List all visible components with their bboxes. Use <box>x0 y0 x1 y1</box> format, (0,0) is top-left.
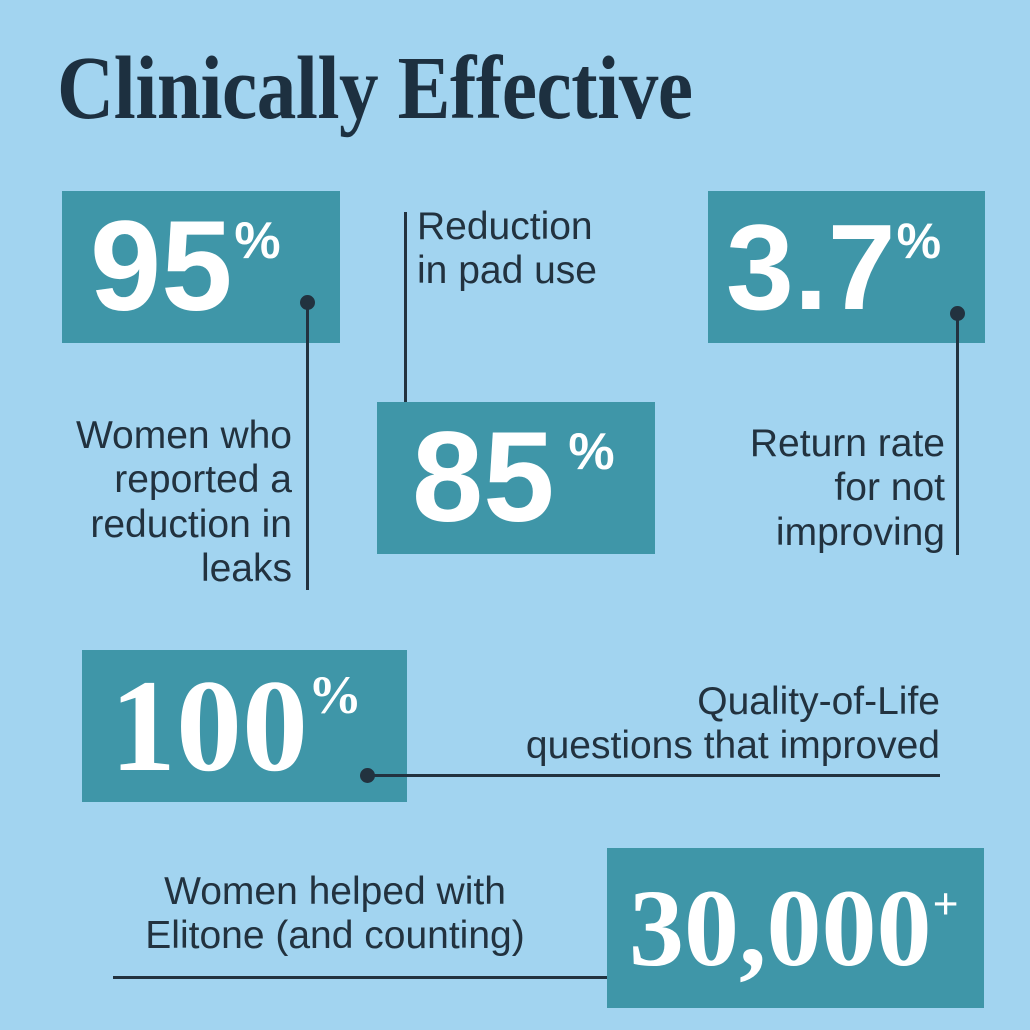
stat-box-reduction-in-pad-use: 85% <box>377 402 655 554</box>
percent-suffix-85: % <box>568 426 614 478</box>
plus-suffix-30000: + <box>933 881 959 927</box>
stat-caption-reduction-in-pad-use: Reduction in pad use <box>417 205 667 294</box>
infographic-root: Clinically Effective 95% Women who repor… <box>0 0 1030 1030</box>
percent-suffix-95: % <box>234 215 280 267</box>
connector-line-quality-of-life <box>370 774 940 777</box>
stat-value-95: 95% <box>90 203 281 331</box>
percent-suffix-37: % <box>897 216 941 266</box>
stat-box-return-rate: 3.7% <box>708 191 985 343</box>
stat-caption-quality-of-life: Quality-of-Life questions that improved <box>440 680 940 769</box>
connector-line-women-helped <box>113 976 635 979</box>
stat-number-95: 95 <box>90 203 232 331</box>
stat-caption-return-rate: Return rate for not improving <box>700 422 945 555</box>
stat-caption-women-helped: Women helped with Elitone (and counting) <box>105 870 565 959</box>
page-title: Clinically Effective <box>57 44 693 134</box>
stat-box-quality-of-life: 100% <box>82 650 407 802</box>
stat-box-reduction-in-leaks: 95% <box>62 191 340 343</box>
connector-line-reduction-in-pad-use <box>404 212 407 419</box>
percent-suffix-100: % <box>308 668 362 722</box>
stat-value-30000: 30,000+ <box>629 873 959 983</box>
stat-number-100: 100 <box>110 660 308 792</box>
stat-caption-reduction-in-leaks: Women who reported a reduction in leaks <box>30 414 292 592</box>
connector-line-return-rate <box>956 313 959 555</box>
stat-number-37: 3.7 <box>726 206 896 328</box>
stat-value-37: 3.7% <box>726 206 941 328</box>
stat-number-30000: 30,000 <box>629 873 932 983</box>
stat-number-85: 85 <box>412 414 554 542</box>
connector-line-reduction-in-leaks <box>306 302 309 590</box>
stat-box-women-helped: 30,000+ <box>607 848 984 1008</box>
stat-value-85: 85% <box>412 414 615 542</box>
stat-value-100: 100% <box>110 660 362 792</box>
